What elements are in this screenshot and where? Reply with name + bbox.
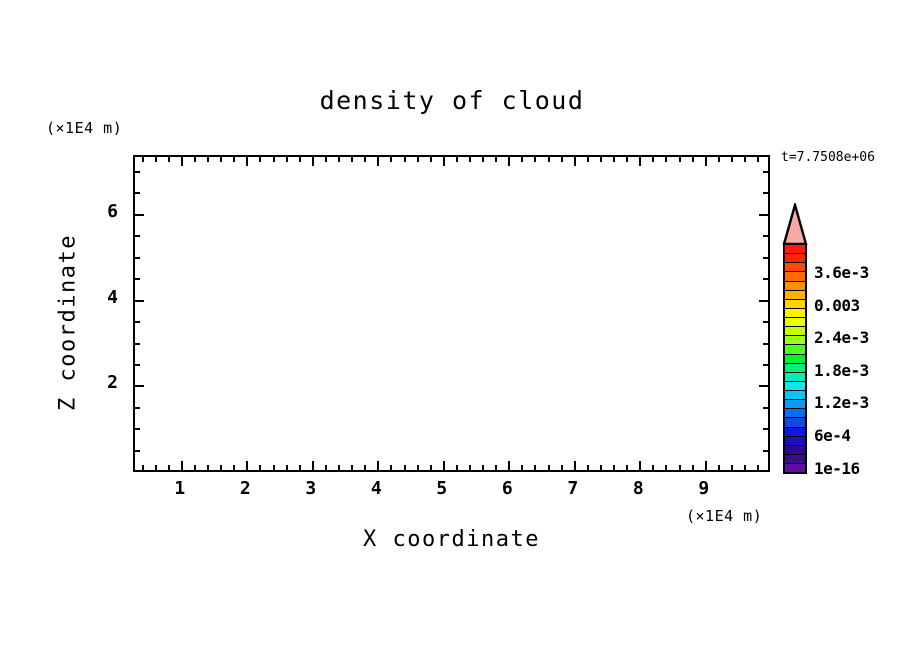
tick-mark xyxy=(482,157,484,162)
tick-mark xyxy=(763,235,768,237)
tick-mark xyxy=(135,235,140,237)
x-axis-unit-label: (×1E4 m) xyxy=(686,507,762,525)
colorbar-band xyxy=(785,345,805,354)
tick-mark xyxy=(338,157,340,162)
tick-mark xyxy=(351,157,353,162)
tick-mark xyxy=(135,364,140,366)
colorbar-band xyxy=(785,418,805,427)
tick-mark xyxy=(587,465,589,470)
tick-mark xyxy=(665,157,667,162)
tick-mark xyxy=(312,157,314,166)
tick-mark xyxy=(534,465,536,470)
tick-mark xyxy=(456,465,458,470)
tick-mark xyxy=(155,465,157,470)
tick-mark xyxy=(168,465,170,470)
x-tick-label: 9 xyxy=(684,478,724,499)
colorbar-band xyxy=(785,282,805,291)
tick-mark xyxy=(757,465,759,470)
tick-mark xyxy=(273,157,275,162)
tick-mark xyxy=(639,461,641,470)
tick-mark xyxy=(548,465,550,470)
tick-mark xyxy=(744,465,746,470)
colorbar-label: 1.2e-3 xyxy=(814,393,904,412)
tick-mark xyxy=(207,465,209,470)
tick-mark xyxy=(613,157,615,162)
tick-mark xyxy=(639,157,641,166)
tick-mark xyxy=(246,157,248,166)
tick-mark xyxy=(561,157,563,162)
x-tick-label: 4 xyxy=(356,478,396,499)
colorbar-band xyxy=(785,245,805,254)
tick-mark xyxy=(443,157,445,166)
tick-mark xyxy=(600,465,602,470)
page-title: density of cloud xyxy=(0,86,904,115)
tick-mark xyxy=(574,157,576,166)
tick-mark xyxy=(364,157,366,162)
tick-mark xyxy=(364,465,366,470)
y-tick-label: 2 xyxy=(92,372,118,393)
tick-mark xyxy=(744,157,746,162)
colorbar-band xyxy=(785,400,805,409)
tick-mark xyxy=(194,157,196,162)
time-annotation: t=7.7508e+06 xyxy=(781,150,875,165)
tick-mark xyxy=(259,157,261,162)
colorbar-label: 2.4e-3 xyxy=(814,328,904,347)
tick-mark xyxy=(286,157,288,162)
colorbar-label: 1e-16 xyxy=(814,459,904,478)
colorbar-label: 1.8e-3 xyxy=(814,361,904,380)
tick-mark xyxy=(469,465,471,470)
tick-mark xyxy=(534,157,536,162)
tick-mark xyxy=(286,465,288,470)
tick-mark xyxy=(135,171,140,173)
colorbar-band xyxy=(785,364,805,373)
tick-mark xyxy=(325,157,327,162)
tick-mark xyxy=(135,321,140,323)
tick-mark xyxy=(430,465,432,470)
colorbar-band xyxy=(785,318,805,327)
colorbar-band xyxy=(785,254,805,263)
tick-mark xyxy=(338,465,340,470)
colorbar-label: 6e-4 xyxy=(814,426,904,445)
y-axis-unit-label: (×1E4 m) xyxy=(46,119,122,137)
tick-mark xyxy=(759,300,768,302)
y-axis-title: Z coordinate xyxy=(56,223,81,423)
tick-mark xyxy=(665,465,667,470)
tick-mark xyxy=(587,157,589,162)
tick-mark xyxy=(390,157,392,162)
x-tick-label: 7 xyxy=(553,478,593,499)
colorbar-band xyxy=(785,272,805,281)
tick-mark xyxy=(142,465,144,470)
tick-mark xyxy=(181,157,183,166)
tick-mark xyxy=(220,157,222,162)
tick-mark xyxy=(763,257,768,259)
tick-mark xyxy=(652,157,654,162)
tick-mark xyxy=(377,461,379,470)
tick-mark xyxy=(220,465,222,470)
tick-mark xyxy=(233,465,235,470)
colorbar-band xyxy=(785,336,805,345)
tick-mark xyxy=(312,461,314,470)
colorbar-band xyxy=(785,355,805,364)
tick-mark xyxy=(168,157,170,162)
tick-mark xyxy=(135,407,140,409)
x-tick-label: 5 xyxy=(422,478,462,499)
tick-mark xyxy=(679,465,681,470)
x-tick-label: 1 xyxy=(160,478,200,499)
colorbar-band xyxy=(785,291,805,300)
tick-mark xyxy=(718,157,720,162)
tick-mark xyxy=(757,157,759,162)
tick-mark xyxy=(135,385,144,387)
x-tick-label: 6 xyxy=(487,478,527,499)
tick-mark xyxy=(600,157,602,162)
tick-mark xyxy=(521,465,523,470)
tick-mark xyxy=(325,465,327,470)
colorbar-band xyxy=(785,455,805,464)
tick-mark xyxy=(763,343,768,345)
tick-mark xyxy=(705,157,707,166)
tick-mark xyxy=(135,257,140,259)
tick-mark xyxy=(705,461,707,470)
tick-mark xyxy=(155,157,157,162)
colorbar-band xyxy=(785,309,805,318)
colorbar-band xyxy=(785,382,805,391)
tick-mark xyxy=(273,465,275,470)
tick-mark xyxy=(194,465,196,470)
tick-mark xyxy=(692,465,694,470)
x-axis-title: X coordinate xyxy=(133,527,770,552)
tick-mark xyxy=(135,214,144,216)
tick-mark xyxy=(135,278,140,280)
tick-mark xyxy=(259,465,261,470)
tick-mark xyxy=(521,157,523,162)
tick-mark xyxy=(430,157,432,162)
colorbar-band xyxy=(785,428,805,437)
colorbar-band xyxy=(785,373,805,382)
colorbar-band xyxy=(785,327,805,336)
x-tick-label: 3 xyxy=(291,478,331,499)
tick-mark xyxy=(731,465,733,470)
colorbar-label: 3.6e-3 xyxy=(814,263,904,282)
tick-mark xyxy=(482,465,484,470)
tick-mark xyxy=(759,385,768,387)
tick-mark xyxy=(731,157,733,162)
tick-mark xyxy=(759,214,768,216)
tick-mark xyxy=(718,465,720,470)
tick-mark xyxy=(763,364,768,366)
tick-mark xyxy=(207,157,209,162)
tick-mark xyxy=(299,465,301,470)
tick-mark xyxy=(495,465,497,470)
tick-mark xyxy=(763,407,768,409)
tick-mark xyxy=(626,157,628,162)
tick-mark xyxy=(574,461,576,470)
tick-mark xyxy=(763,428,768,430)
tick-mark xyxy=(469,157,471,162)
tick-mark xyxy=(561,465,563,470)
y-tick-label: 4 xyxy=(92,287,118,308)
tick-mark xyxy=(495,157,497,162)
tick-mark xyxy=(679,157,681,162)
tick-mark xyxy=(299,157,301,162)
colorbar-band xyxy=(785,409,805,418)
colorbar-label: 0.003 xyxy=(814,296,904,315)
tick-mark xyxy=(135,300,144,302)
colorbar-band xyxy=(785,437,805,446)
tick-mark xyxy=(351,465,353,470)
colorbar-band xyxy=(785,464,805,472)
tick-mark xyxy=(377,157,379,166)
colorbar-band xyxy=(785,300,805,309)
tick-mark xyxy=(246,461,248,470)
tick-mark xyxy=(456,157,458,162)
tick-mark xyxy=(135,428,140,430)
tick-mark xyxy=(652,465,654,470)
tick-mark xyxy=(404,465,406,470)
tick-mark xyxy=(417,157,419,162)
tick-mark xyxy=(404,157,406,162)
tick-mark xyxy=(390,465,392,470)
plot-area xyxy=(133,155,770,472)
colorbar-band xyxy=(785,391,805,400)
contour-heatmap xyxy=(135,157,768,470)
tick-mark xyxy=(233,157,235,162)
tick-mark xyxy=(613,465,615,470)
tick-mark xyxy=(417,465,419,470)
x-tick-label: 2 xyxy=(225,478,265,499)
tick-mark xyxy=(763,192,768,194)
tick-mark xyxy=(135,343,140,345)
tick-mark xyxy=(763,450,768,452)
colorbar-band xyxy=(785,446,805,455)
colorbar[interactable] xyxy=(783,243,807,474)
tick-mark xyxy=(508,461,510,470)
tick-mark xyxy=(763,278,768,280)
tick-mark xyxy=(135,450,140,452)
colorbar-band xyxy=(785,263,805,272)
tick-mark xyxy=(142,157,144,162)
y-tick-label: 6 xyxy=(92,201,118,222)
tick-mark xyxy=(135,192,140,194)
tick-mark xyxy=(626,465,628,470)
tick-mark xyxy=(763,321,768,323)
x-tick-label: 8 xyxy=(618,478,658,499)
tick-mark xyxy=(692,157,694,162)
tick-mark xyxy=(548,157,550,162)
tick-mark xyxy=(508,157,510,166)
colorbar-overflow-arrow xyxy=(781,203,809,245)
tick-mark xyxy=(443,461,445,470)
tick-mark xyxy=(181,461,183,470)
tick-mark xyxy=(763,171,768,173)
